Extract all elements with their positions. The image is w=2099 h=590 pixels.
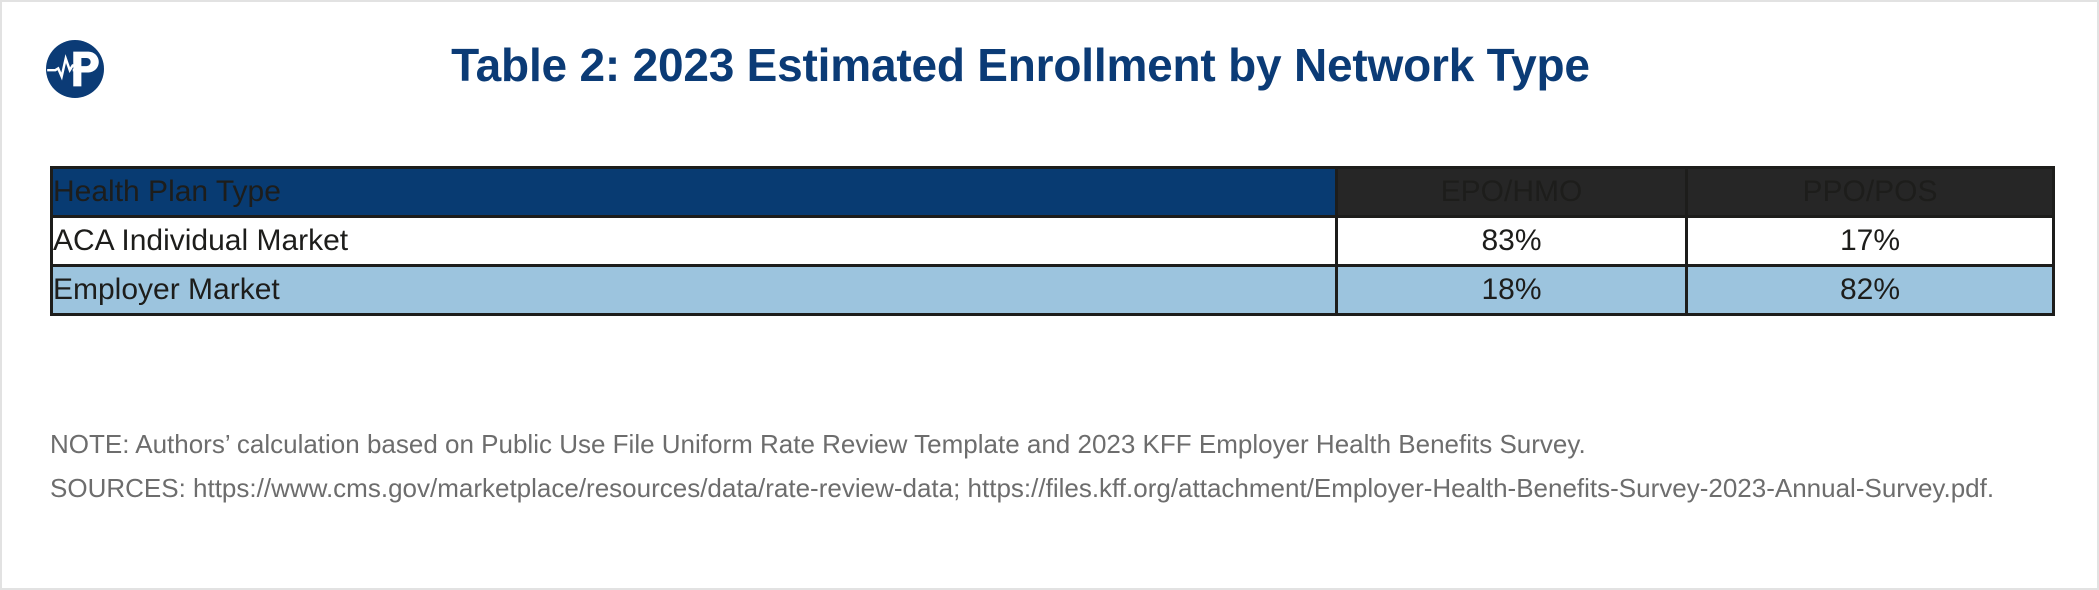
column-header-health-plan-type: Health Plan Type [52, 168, 1337, 217]
note-text: NOTE: Authors’ calculation based on Publ… [50, 426, 2055, 462]
row-label-employer-market: Employer Market [52, 266, 1337, 315]
table-body: ACA Individual Market 83% 17% Employer M… [52, 217, 2054, 315]
cell-employer-epo-hmo: 18% [1337, 266, 1687, 315]
column-header-ppo-pos: PPO/POS [1687, 168, 2054, 217]
enrollment-table: Health Plan Type EPO/HMO PPO/POS ACA Ind… [50, 166, 2055, 316]
table-row: ACA Individual Market 83% 17% [52, 217, 2054, 266]
cell-aca-epo-hmo: 83% [1337, 217, 1687, 266]
cell-employer-ppo-pos: 82% [1687, 266, 2054, 315]
table-header: Health Plan Type EPO/HMO PPO/POS [52, 168, 2054, 217]
column-header-epo-hmo: EPO/HMO [1337, 168, 1687, 217]
table-header-row: Health Plan Type EPO/HMO PPO/POS [52, 168, 2054, 217]
table-row: Employer Market 18% 82% [52, 266, 2054, 315]
page-title: Table 2: 2023 Estimated Enrollment by Ne… [2, 38, 2097, 92]
sources-text: SOURCES: https://www.cms.gov/marketplace… [50, 470, 2055, 506]
figure-header: Table 2: 2023 Estimated Enrollment by Ne… [2, 2, 2097, 120]
cell-aca-ppo-pos: 17% [1687, 217, 2054, 266]
footnotes: NOTE: Authors’ calculation based on Publ… [50, 426, 2055, 506]
table-figure-page: Table 2: 2023 Estimated Enrollment by Ne… [0, 0, 2099, 590]
row-label-aca-individual-market: ACA Individual Market [52, 217, 1337, 266]
enrollment-table-container: Health Plan Type EPO/HMO PPO/POS ACA Ind… [50, 166, 2052, 316]
